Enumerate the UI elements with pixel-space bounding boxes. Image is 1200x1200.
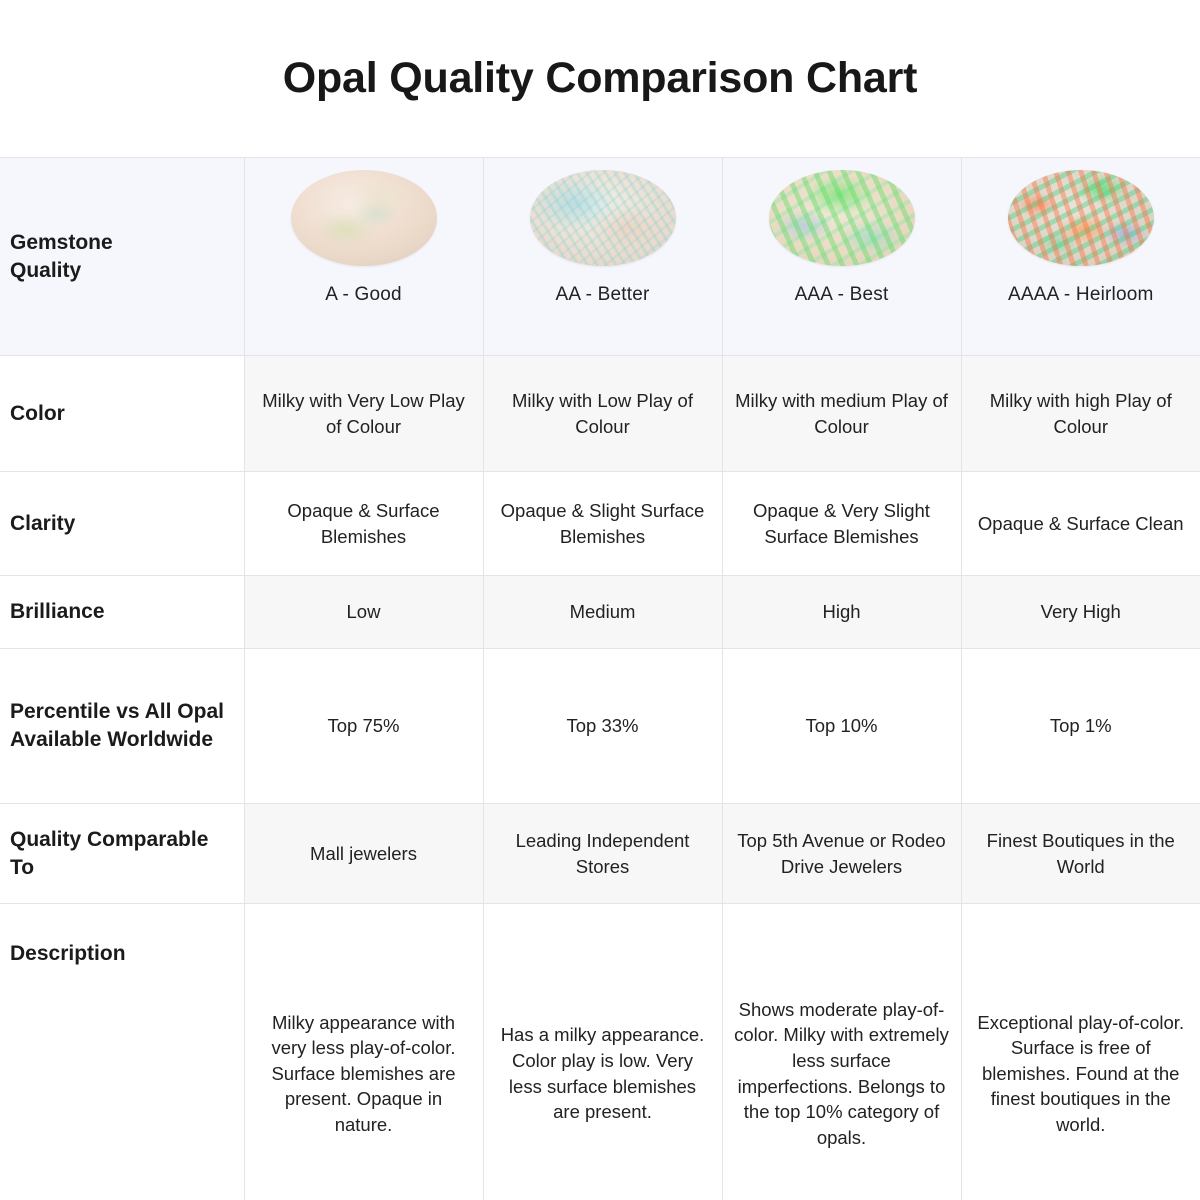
opal-gem-aaa-icon (769, 170, 915, 266)
opal-gem-aaaa-icon (1008, 170, 1154, 266)
row-label-line2: Quality (10, 259, 81, 282)
table-row-quality-comparable-to: Quality Comparable To Mall jewelers Lead… (0, 804, 1200, 904)
grade-cell-aaaa: AAAA - Heirloom (961, 158, 1200, 356)
cell-percentile-aaa: Top 10% (722, 649, 961, 804)
cell-color-aaa: Milky with medium Play of Colour (722, 356, 961, 472)
page-title: Opal Quality Comparison Chart (283, 55, 918, 102)
row-label-gemstone-quality: Gemstone Quality (0, 158, 244, 356)
row-label-percentile: Percentile vs All Opal Available Worldwi… (0, 649, 244, 804)
cell-percentile-a: Top 75% (244, 649, 483, 804)
opal-quality-comparison-page: Opal Quality Comparison Chart Gemstone Q… (0, 0, 1200, 1200)
table-row-brilliance: Brilliance Low Medium High Very High (0, 576, 1200, 649)
cell-clarity-aaaa: Opaque & Surface Clean (961, 472, 1200, 576)
cell-percentile-aaaa: Top 1% (961, 649, 1200, 804)
cell-clarity-aa: Opaque & Slight Surface Blemishes (483, 472, 722, 576)
cell-comparable-aaa: Top 5th Avenue or Rodeo Drive Jewelers (722, 804, 961, 904)
table-row-percentile: Percentile vs All Opal Available Worldwi… (0, 649, 1200, 804)
cell-clarity-aaa: Opaque & Very Slight Surface Blemishes (722, 472, 961, 576)
cell-brilliance-aaa: High (722, 576, 961, 649)
cell-brilliance-aaaa: Very High (961, 576, 1200, 649)
cell-brilliance-a: Low (244, 576, 483, 649)
table-row-color: Color Milky with Very Low Play of Colour… (0, 356, 1200, 472)
cell-comparable-a: Mall jewelers (244, 804, 483, 904)
cell-color-a: Milky with Very Low Play of Colour (244, 356, 483, 472)
grade-label-a: A - Good (325, 282, 402, 308)
page-title-container: Opal Quality Comparison Chart (0, 0, 1200, 157)
grade-cell-aaa: AAA - Best (722, 158, 961, 356)
row-label-line1: Gemstone (10, 231, 113, 254)
grade-cell-a: A - Good (244, 158, 483, 356)
opal-comparison-table: Gemstone Quality A - Good AA - Better (0, 157, 1200, 1200)
row-label-clarity: Clarity (0, 472, 244, 576)
cell-clarity-a: Opaque & Surface Blemishes (244, 472, 483, 576)
grade-label-aaa: AAA - Best (795, 282, 889, 308)
cell-comparable-aaaa: Finest Boutiques in the World (961, 804, 1200, 904)
table-row-gemstone-quality: Gemstone Quality A - Good AA - Better (0, 158, 1200, 356)
cell-description-aaaa: Exceptional play-of-color. Surface is fr… (961, 904, 1200, 1200)
cell-color-aa: Milky with Low Play of Colour (483, 356, 722, 472)
table-row-description: Description Milky appearance with very l… (0, 904, 1200, 1200)
grade-cell-aa: AA - Better (483, 158, 722, 356)
cell-description-aaa: Shows moderate play-of-color. Milky with… (722, 904, 961, 1200)
row-label-quality-comparable-to: Quality Comparable To (0, 804, 244, 904)
cell-description-a: Milky appearance with very less play-of-… (244, 904, 483, 1200)
row-label-brilliance: Brilliance (0, 576, 244, 649)
opal-gem-aa-icon (530, 170, 676, 266)
cell-comparable-aa: Leading Independent Stores (483, 804, 722, 904)
row-label-description: Description (0, 904, 244, 1200)
grade-label-aaaa: AAAA - Heirloom (1008, 282, 1154, 308)
grade-label-aa: AA - Better (555, 282, 649, 308)
cell-color-aaaa: Milky with high Play of Colour (961, 356, 1200, 472)
cell-description-aa: Has a milky appearance. Color play is lo… (483, 904, 722, 1200)
cell-brilliance-aa: Medium (483, 576, 722, 649)
opal-gem-a-icon (291, 170, 437, 266)
table-row-clarity: Clarity Opaque & Surface Blemishes Opaqu… (0, 472, 1200, 576)
row-label-color: Color (0, 356, 244, 472)
cell-percentile-aa: Top 33% (483, 649, 722, 804)
